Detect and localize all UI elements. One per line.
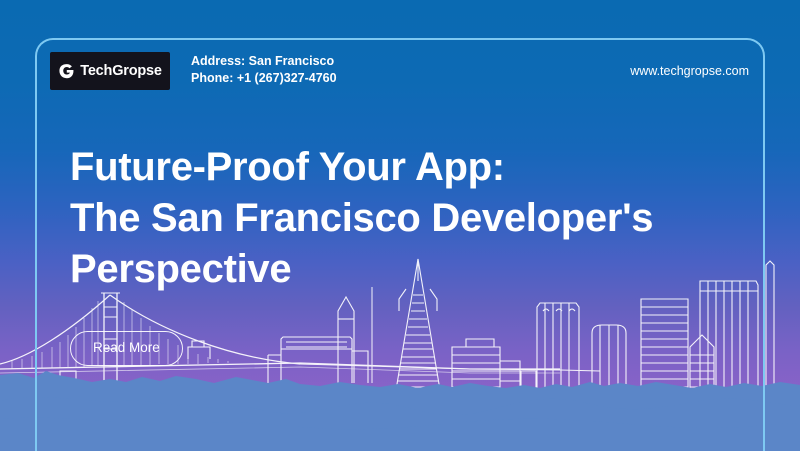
mid-warehouse-building-icon bbox=[268, 337, 368, 383]
coit-tower-icon bbox=[338, 297, 354, 383]
logo-wordmark: TechGropse bbox=[80, 63, 162, 79]
headline-line-1: Future-Proof Your App: bbox=[70, 142, 770, 193]
stepped-block-building-icon bbox=[452, 339, 520, 401]
headline-line-2: The San Francisco Developer's bbox=[70, 193, 770, 244]
read-more-button[interactable]: Read More bbox=[70, 331, 183, 366]
techgropse-logo[interactable]: TechGropse bbox=[50, 52, 170, 90]
right-block-tower-icon bbox=[700, 281, 758, 401]
left-low-buildings-icon bbox=[188, 341, 210, 359]
g-monogram-icon bbox=[58, 63, 75, 80]
office-tower-icon bbox=[641, 299, 688, 401]
bay-hills-silhouette bbox=[0, 371, 800, 451]
far-left-building-icon bbox=[60, 371, 76, 403]
rounded-top-building-icon bbox=[592, 325, 626, 401]
page-title: Future-Proof Your App: The San Francisco… bbox=[70, 142, 770, 296]
headline-line-3: Perspective bbox=[70, 244, 770, 295]
promo-banner: TechGropse Address: San Francisco Phone:… bbox=[0, 0, 800, 451]
contact-info: Address: San Francisco Phone: +1 (267)32… bbox=[191, 52, 337, 88]
address-line: Address: San Francisco bbox=[191, 53, 337, 70]
banner-header: TechGropse Address: San Francisco Phone:… bbox=[50, 52, 765, 96]
peaked-roof-tower-icon bbox=[690, 335, 714, 401]
millennium-tower-icon bbox=[537, 303, 579, 401]
website-url[interactable]: www.techgropse.com bbox=[630, 52, 765, 78]
notched-building-icon bbox=[521, 371, 536, 401]
phone-line: Phone: +1 (267)327-4760 bbox=[191, 70, 337, 87]
